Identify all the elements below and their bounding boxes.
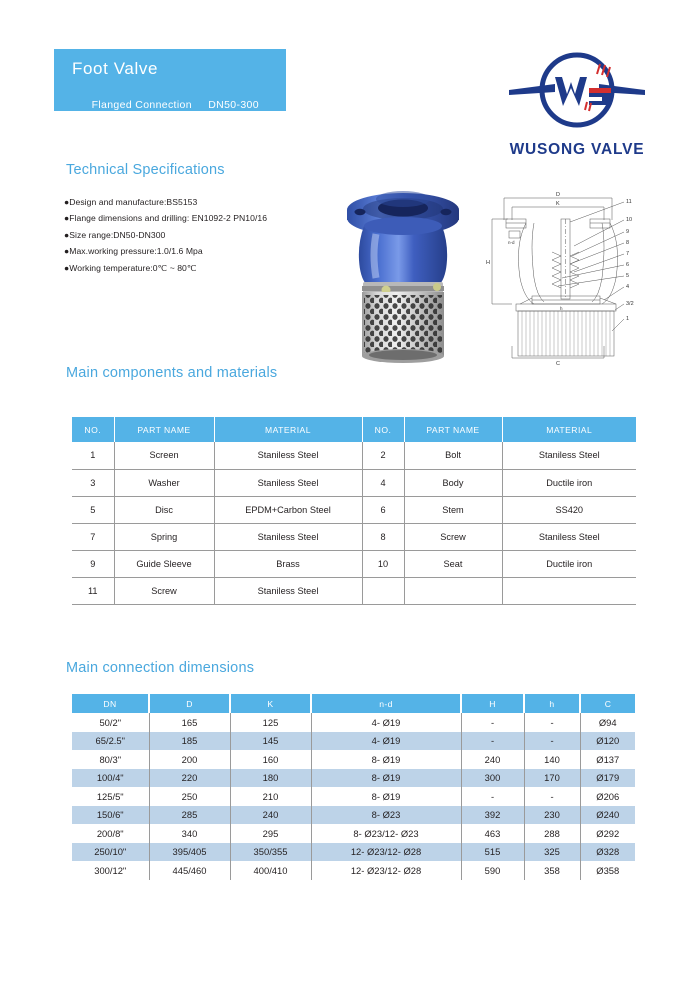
cell-material: Staniless Steel bbox=[214, 577, 362, 604]
cell-h-major: 590 bbox=[461, 861, 524, 880]
cell-nd: 4- Ø19 bbox=[311, 732, 461, 751]
cell-h-major: - bbox=[461, 787, 524, 806]
cell-no: 8 bbox=[362, 523, 404, 550]
cell-h-major: 515 bbox=[461, 843, 524, 862]
col-dn: DN bbox=[72, 694, 149, 713]
cell-h-minor: 140 bbox=[524, 750, 580, 769]
product-subtitle: Flanged Connection DN50-300 bbox=[72, 87, 286, 123]
cell-dn: 80/3" bbox=[72, 750, 149, 769]
spec-text: Max.working pressure:1.0/1.6 Mpa bbox=[69, 246, 202, 256]
drawing-leader-11: 11 bbox=[626, 199, 632, 205]
drawing-leader-5: 5 bbox=[626, 273, 629, 279]
cell-c: Ø240 bbox=[580, 806, 635, 825]
cell-d: 395/405 bbox=[149, 843, 230, 862]
table-row: 200/8" 340 295 8- Ø23/12- Ø23 463 288 Ø2… bbox=[72, 824, 635, 843]
spec-item: ●Working temperature:0℃ ~ 80℃ bbox=[64, 260, 364, 276]
col-no-1: NO. bbox=[72, 417, 114, 442]
cell-h-minor: 170 bbox=[524, 769, 580, 788]
cell-k: 125 bbox=[230, 713, 311, 732]
materials-table: NO. PART NAME MATERIAL NO. PART NAME MAT… bbox=[72, 417, 636, 605]
drawing-dim-h-minor: h bbox=[560, 306, 563, 311]
company-logo: WUSONG VALVE bbox=[497, 44, 657, 159]
spec-item: ●Size range:DN50-DN300 bbox=[64, 227, 364, 243]
cell-d: 165 bbox=[149, 713, 230, 732]
cell-k: 350/355 bbox=[230, 843, 311, 862]
cell-no bbox=[362, 577, 404, 604]
col-h-minor: h bbox=[524, 694, 580, 713]
col-material-2: MATERIAL bbox=[502, 417, 636, 442]
cell-c: Ø292 bbox=[580, 824, 635, 843]
spec-item: ●Design and manufacture:BS5153 bbox=[64, 194, 364, 210]
cell-material: SS420 bbox=[502, 496, 636, 523]
cell-no: 10 bbox=[362, 550, 404, 577]
cell-no: 5 bbox=[72, 496, 114, 523]
cell-no: 6 bbox=[362, 496, 404, 523]
cell-part-name bbox=[404, 577, 502, 604]
cell-h-minor: 230 bbox=[524, 806, 580, 825]
cell-material: Ductile iron bbox=[502, 469, 636, 496]
cell-no: 2 bbox=[362, 442, 404, 469]
cell-material bbox=[502, 577, 636, 604]
product-photo bbox=[338, 182, 468, 368]
cell-part-name: Guide Sleeve bbox=[114, 550, 214, 577]
cell-dn: 200/8" bbox=[72, 824, 149, 843]
cell-nd: 8- Ø23/12- Ø23 bbox=[311, 824, 461, 843]
cell-no: 3 bbox=[72, 469, 114, 496]
cell-c: Ø120 bbox=[580, 732, 635, 751]
size-range-badge: DN50-300 bbox=[208, 99, 259, 111]
spec-item: ●Flange dimensions and drilling: EN1092-… bbox=[64, 210, 364, 226]
cell-k: 240 bbox=[230, 806, 311, 825]
cell-dn: 50/2" bbox=[72, 713, 149, 732]
col-nd: n-d bbox=[311, 694, 461, 713]
cell-h-minor: - bbox=[524, 732, 580, 751]
cell-k: 180 bbox=[230, 769, 311, 788]
spec-text: Flange dimensions and drilling: EN1092-2… bbox=[69, 213, 267, 223]
cell-k: 295 bbox=[230, 824, 311, 843]
cell-no: 9 bbox=[72, 550, 114, 577]
drawing-dim-h-major: H bbox=[486, 260, 490, 266]
cell-part-name: Disc bbox=[114, 496, 214, 523]
cell-k: 160 bbox=[230, 750, 311, 769]
cell-c: Ø179 bbox=[580, 769, 635, 788]
cell-h-minor: 288 bbox=[524, 824, 580, 843]
drawing-dim-d: D bbox=[556, 192, 560, 198]
drawing-leader-4: 4 bbox=[626, 284, 629, 290]
cell-nd: 8- Ø23 bbox=[311, 806, 461, 825]
cell-c: Ø358 bbox=[580, 861, 635, 880]
col-no-2: NO. bbox=[362, 417, 404, 442]
cell-h-minor: - bbox=[524, 713, 580, 732]
cell-nd: 4- Ø19 bbox=[311, 713, 461, 732]
table-row: 65/2.5" 185 145 4- Ø19 - - Ø120 bbox=[72, 732, 635, 751]
table-row: 3 Washer Staniless Steel 4 Body Ductile … bbox=[72, 469, 636, 496]
cell-dn: 250/10" bbox=[72, 843, 149, 862]
table-row: 11 Screw Staniless Steel bbox=[72, 577, 636, 604]
table-row: 50/2" 165 125 4- Ø19 - - Ø94 bbox=[72, 713, 635, 732]
cell-d: 285 bbox=[149, 806, 230, 825]
product-header-banner: Foot Valve Flanged Connection DN50-300 bbox=[54, 49, 286, 111]
table-row: 5 Disc EPDM+Carbon Steel 6 Stem SS420 bbox=[72, 496, 636, 523]
dimensions-table: DN D K n-d H h C 50/2" 165 125 4- Ø19 - … bbox=[72, 694, 635, 880]
drawing-leader-3-2: 3/2 bbox=[626, 301, 634, 307]
table-row: 250/10" 395/405 350/355 12- Ø23/12- Ø28 … bbox=[72, 843, 635, 862]
cell-k: 145 bbox=[230, 732, 311, 751]
drawing-leader-7: 7 bbox=[626, 251, 629, 257]
col-c: C bbox=[580, 694, 635, 713]
drawing-leader-10: 10 bbox=[626, 217, 632, 223]
col-k: K bbox=[230, 694, 311, 713]
cell-c: Ø137 bbox=[580, 750, 635, 769]
table-row: 9 Guide Sleeve Brass 10 Seat Ductile iro… bbox=[72, 550, 636, 577]
cell-part-name: Screen bbox=[114, 442, 214, 469]
cell-material: Staniless Steel bbox=[502, 523, 636, 550]
table-row: 300/12" 445/460 400/410 12- Ø23/12- Ø28 … bbox=[72, 861, 635, 880]
cell-h-major: 463 bbox=[461, 824, 524, 843]
cell-material: Ductile iron bbox=[502, 550, 636, 577]
cell-d: 200 bbox=[149, 750, 230, 769]
cell-no: 1 bbox=[72, 442, 114, 469]
cell-h-minor: 325 bbox=[524, 843, 580, 862]
cell-d: 220 bbox=[149, 769, 230, 788]
cell-nd: 8- Ø19 bbox=[311, 750, 461, 769]
cell-part-name: Stem bbox=[404, 496, 502, 523]
col-d: D bbox=[149, 694, 230, 713]
cell-h-major: 240 bbox=[461, 750, 524, 769]
table-row: 100/4" 220 180 8- Ø19 300 170 Ø179 bbox=[72, 769, 635, 788]
heading-technical-specifications: Technical Specifications bbox=[66, 162, 225, 178]
cell-c: Ø328 bbox=[580, 843, 635, 862]
cell-material: Staniless Steel bbox=[214, 469, 362, 496]
cell-c: Ø206 bbox=[580, 787, 635, 806]
cell-no: 11 bbox=[72, 577, 114, 604]
cell-h-minor: - bbox=[524, 787, 580, 806]
cell-dn: 65/2.5" bbox=[72, 732, 149, 751]
datasheet-page: Foot Valve Flanged Connection DN50-300 bbox=[0, 0, 700, 1001]
drawing-dim-c: C bbox=[556, 361, 560, 366]
cell-k: 210 bbox=[230, 787, 311, 806]
table-row: 80/3" 200 160 8- Ø19 240 140 Ø137 bbox=[72, 750, 635, 769]
table-header-row: DN D K n-d H h C bbox=[72, 694, 635, 713]
drawing-leader-9: 9 bbox=[626, 229, 629, 235]
cell-h-major: - bbox=[461, 732, 524, 751]
technical-drawing: D K H C n-d h 11 10 9 8 7 6 5 4 3/2 1 bbox=[482, 186, 650, 366]
cell-d: 250 bbox=[149, 787, 230, 806]
wusong-logo-icon bbox=[497, 44, 657, 140]
cell-no: 4 bbox=[362, 469, 404, 496]
cell-nd: 8- Ø19 bbox=[311, 787, 461, 806]
cell-dn: 300/12" bbox=[72, 861, 149, 880]
cell-material: Brass bbox=[214, 550, 362, 577]
drawing-dim-k: K bbox=[556, 201, 560, 207]
cell-part-name: Seat bbox=[404, 550, 502, 577]
cell-part-name: Screw bbox=[404, 523, 502, 550]
table-row: 1 Screen Staniless Steel 2 Bolt Staniles… bbox=[72, 442, 636, 469]
col-part-name-1: PART NAME bbox=[114, 417, 214, 442]
spec-text: Working temperature:0℃ ~ 80℃ bbox=[69, 263, 196, 273]
cell-h-major: - bbox=[461, 713, 524, 732]
table-row: 150/6" 285 240 8- Ø23 392 230 Ø240 bbox=[72, 806, 635, 825]
cell-part-name: Screw bbox=[114, 577, 214, 604]
brand-name: WUSONG VALVE bbox=[497, 141, 657, 159]
cell-h-major: 392 bbox=[461, 806, 524, 825]
cell-material: Staniless Steel bbox=[214, 523, 362, 550]
cell-h-minor: 358 bbox=[524, 861, 580, 880]
spec-item: ●Max.working pressure:1.0/1.6 Mpa bbox=[64, 243, 364, 259]
cell-dn: 100/4" bbox=[72, 769, 149, 788]
cell-nd: 12- Ø23/12- Ø28 bbox=[311, 843, 461, 862]
heading-main-components: Main components and materials bbox=[66, 365, 277, 381]
heading-main-connection-dimensions: Main connection dimensions bbox=[66, 660, 254, 676]
cell-dn: 150/6" bbox=[72, 806, 149, 825]
cell-d: 445/460 bbox=[149, 861, 230, 880]
cell-no: 7 bbox=[72, 523, 114, 550]
cell-d: 185 bbox=[149, 732, 230, 751]
cell-part-name: Bolt bbox=[404, 442, 502, 469]
spec-text: Design and manufacture:BS5153 bbox=[69, 197, 197, 207]
drawing-dim-nd: n-d bbox=[508, 240, 515, 245]
cell-nd: 8- Ø19 bbox=[311, 769, 461, 788]
cell-part-name: Washer bbox=[114, 469, 214, 496]
spec-text: Size range:DN50-DN300 bbox=[69, 230, 165, 240]
cell-material: Staniless Steel bbox=[502, 442, 636, 469]
col-h-major: H bbox=[461, 694, 524, 713]
technical-spec-list: ●Design and manufacture:BS5153 ●Flange d… bbox=[64, 194, 364, 276]
col-material-1: MATERIAL bbox=[214, 417, 362, 442]
drawing-leader-8: 8 bbox=[626, 240, 629, 246]
cell-part-name: Spring bbox=[114, 523, 214, 550]
table-row: 125/5" 250 210 8- Ø19 - - Ø206 bbox=[72, 787, 635, 806]
cell-k: 400/410 bbox=[230, 861, 311, 880]
table-row: 7 Spring Staniless Steel 8 Screw Stanile… bbox=[72, 523, 636, 550]
connection-type: Flanged Connection bbox=[92, 99, 192, 111]
drawing-leader-1: 1 bbox=[626, 316, 629, 322]
cell-d: 340 bbox=[149, 824, 230, 843]
cell-dn: 125/5" bbox=[72, 787, 149, 806]
cell-material: Staniless Steel bbox=[214, 442, 362, 469]
drawing-leader-6: 6 bbox=[626, 262, 629, 268]
cell-nd: 12- Ø23/12- Ø28 bbox=[311, 861, 461, 880]
page-title: Foot Valve bbox=[72, 58, 286, 80]
cell-material: EPDM+Carbon Steel bbox=[214, 496, 362, 523]
cell-c: Ø94 bbox=[580, 713, 635, 732]
cell-h-major: 300 bbox=[461, 769, 524, 788]
cell-part-name: Body bbox=[404, 469, 502, 496]
col-part-name-2: PART NAME bbox=[404, 417, 502, 442]
table-header-row: NO. PART NAME MATERIAL NO. PART NAME MAT… bbox=[72, 417, 636, 442]
